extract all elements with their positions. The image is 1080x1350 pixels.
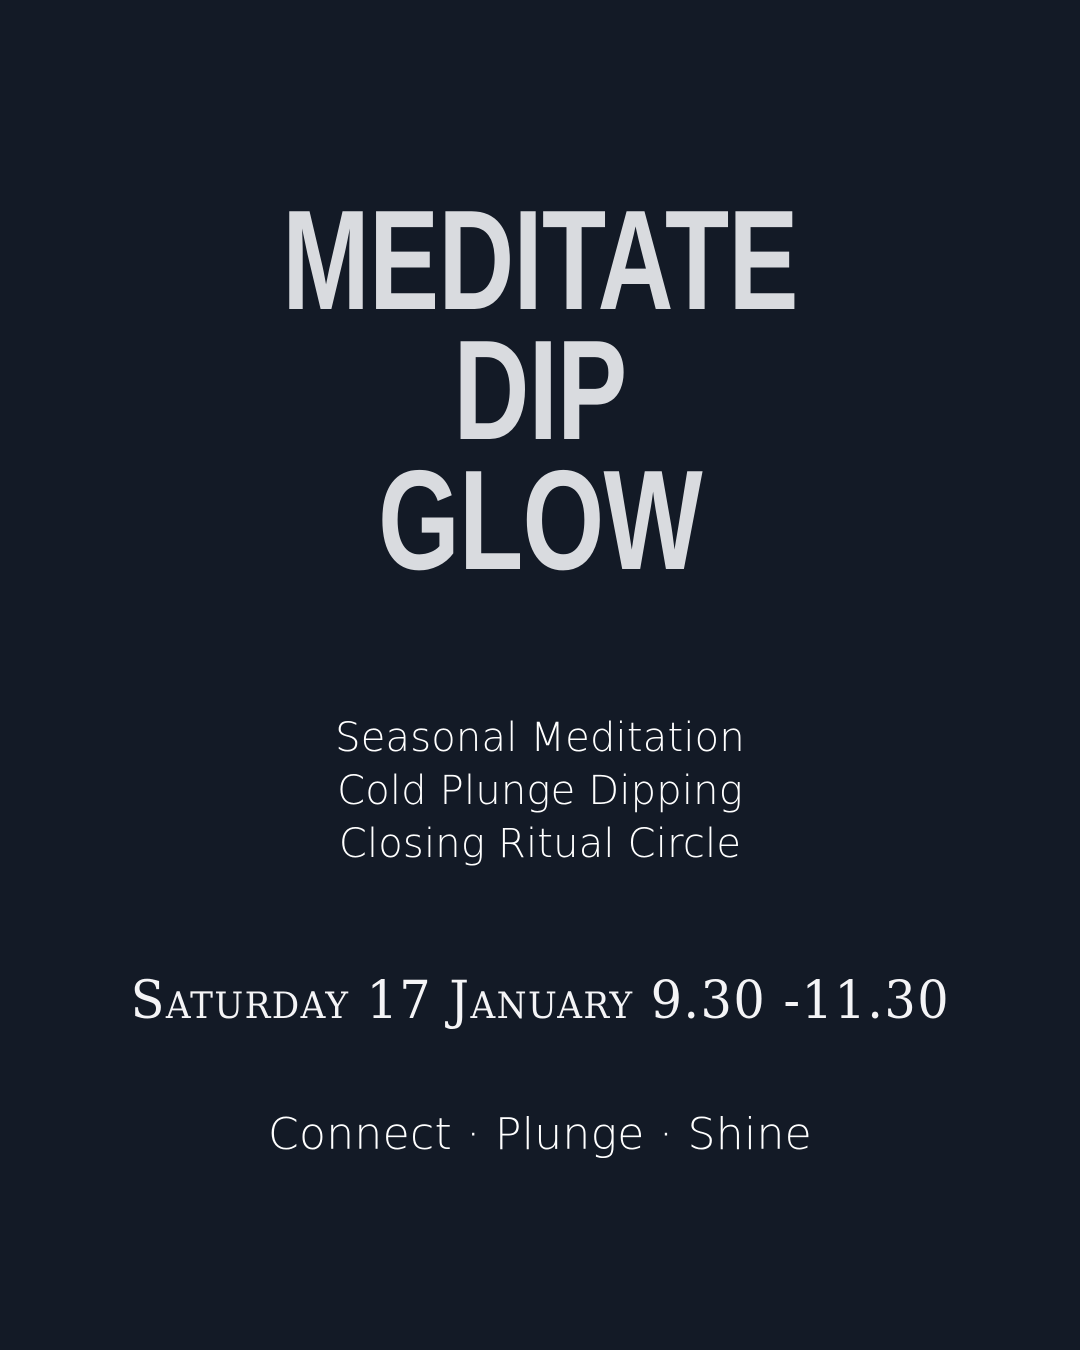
headline-line-glow: GLOW xyxy=(140,456,939,586)
headline-block: MEDITATE DIP GLOW xyxy=(0,196,1080,586)
tagline-block: Connect · Plunge · Shine xyxy=(0,1104,1080,1166)
event-tagline: Connect · Plunge · Shine xyxy=(268,1104,812,1166)
services-list: Seasonal Meditation Cold Plunge Dipping … xyxy=(0,712,1080,871)
schedule-block: Saturday 17 January 9.30 -11.30 xyxy=(0,972,1080,1030)
service-item-cold-plunge-dipping: Cold Plunge Dipping xyxy=(0,765,1080,818)
headline-line-dip: DIP xyxy=(140,326,939,456)
event-poster: MEDITATE DIP GLOW Seasonal Meditation Co… xyxy=(0,0,1080,1350)
event-date-time: Saturday 17 January 9.30 -11.30 xyxy=(130,972,949,1030)
service-item-closing-ritual-circle: Closing Ritual Circle xyxy=(0,818,1080,871)
service-item-seasonal-meditation: Seasonal Meditation xyxy=(0,712,1080,765)
headline-line-meditate: MEDITATE xyxy=(140,196,939,326)
